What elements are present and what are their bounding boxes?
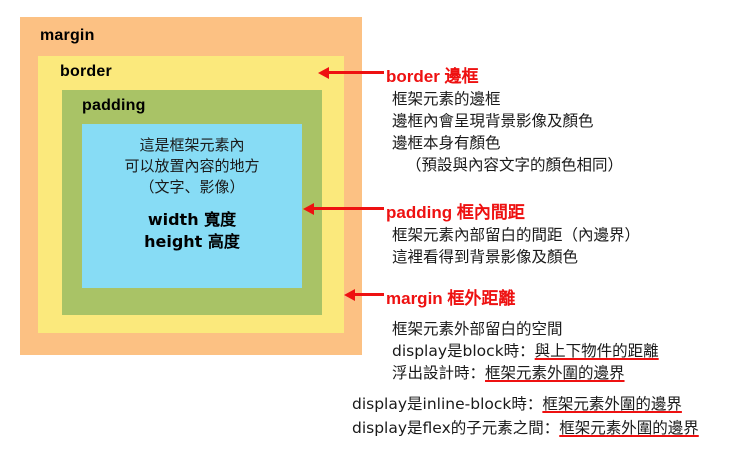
border-annotation-body: 框架元素的邊框 邊框內會呈現背景影像及顏色 邊框本身有顏色 （預設與內容文字的顏… — [392, 88, 623, 176]
border-annotation-line-4: （預設與內容文字的顏色相同） — [392, 154, 623, 176]
margin-extra-line-1-prefix: display是inline-block時： — [352, 395, 542, 413]
padding-annotation-heading: padding 框內間距 — [386, 198, 525, 223]
margin-extra-line-1-underlined: 框架元素外圍的邊界 — [542, 395, 682, 413]
margin-extra-line-2-underlined: 框架元素外圍的邊界 — [559, 419, 699, 437]
margin-extra-notes: display是inline-block時：框架元素外圍的邊界 display是… — [352, 392, 699, 440]
padding-annotation-line-1: 框架元素內部留白的間距（內邊界） — [392, 224, 640, 246]
margin-annotation-line-2: display是block時：與上下物件的距離 — [392, 340, 659, 362]
padding-annotation-line-2: 這裡看得到背景影像及顏色 — [392, 246, 640, 268]
margin-annotation-body: 框架元素外部留白的空間 display是block時：與上下物件的距離 浮出設計… — [392, 318, 659, 384]
margin-extra-line-1: display是inline-block時：框架元素外圍的邊界 — [352, 392, 699, 416]
margin-annotation-line-3-underlined: 框架元素外圍的邊界 — [485, 364, 625, 382]
annotation-column: border 邊框 框架元素的邊框 邊框內會呈現背景影像及顏色 邊框本身有顏色 … — [0, 0, 750, 461]
margin-annotation-line-3-prefix: 浮出設計時： — [392, 364, 485, 382]
margin-annotation-heading: margin 框外距離 — [386, 284, 515, 309]
margin-annotation-line-3: 浮出設計時：框架元素外圍的邊界 — [392, 362, 659, 384]
margin-extra-line-2: display是flex的子元素之間：框架元素外圍的邊界 — [352, 416, 699, 440]
margin-extra-line-2-prefix: display是flex的子元素之間： — [352, 419, 559, 437]
padding-annotation-body: 框架元素內部留白的間距（內邊界） 這裡看得到背景影像及顏色 — [392, 224, 640, 268]
border-annotation-heading: border 邊框 — [386, 62, 479, 87]
border-annotation-line-2: 邊框內會呈現背景影像及顏色 — [392, 110, 623, 132]
margin-annotation-line-2-prefix: display是block時： — [392, 342, 535, 360]
margin-annotation-line-2-underlined: 與上下物件的距離 — [535, 342, 659, 360]
margin-annotation-line-1: 框架元素外部留白的空間 — [392, 318, 659, 340]
border-annotation-line-3: 邊框本身有顏色 — [392, 132, 623, 154]
border-annotation-line-1: 框架元素的邊框 — [392, 88, 623, 110]
